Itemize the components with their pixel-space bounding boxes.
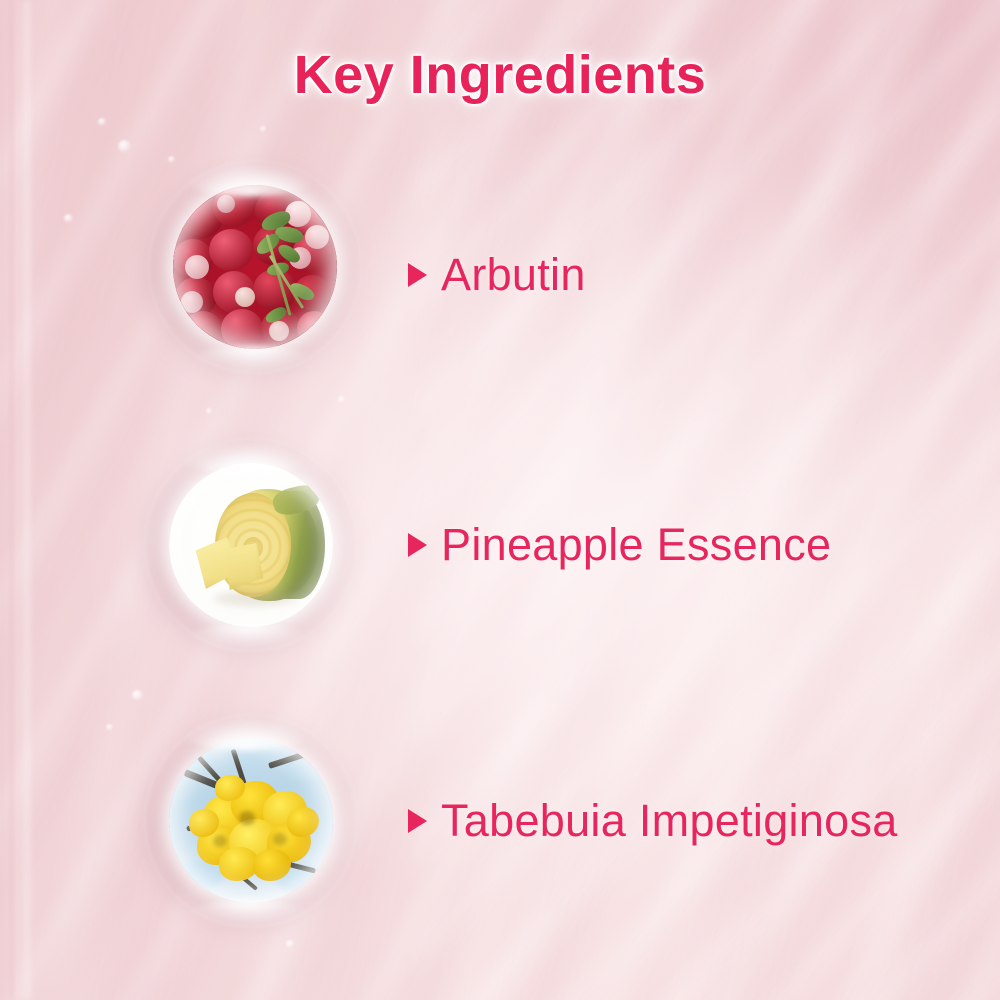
bubble-icon (338, 396, 345, 403)
bead-highlight-bottom (190, 346, 314, 374)
bead-highlight-top (180, 440, 312, 474)
left-edge-highlight (22, 0, 32, 1000)
bubble-icon (286, 940, 294, 948)
ingredient-label-row-3: Tabebuia Impetiginosa (408, 798, 898, 843)
triangle-right-icon (408, 533, 427, 557)
ingredient-label-arbutin: Arbutin (441, 252, 586, 297)
bead-highlight-bottom (186, 624, 310, 652)
ingredient-image-berries (140, 152, 370, 382)
ingredient-image-tabebuia (136, 706, 366, 936)
tabebuia-photo (169, 739, 333, 903)
bubble-icon (118, 140, 131, 153)
bubble-icon (206, 408, 212, 414)
bubble-icon (64, 214, 73, 223)
pineapple-photo (169, 463, 333, 627)
triangle-right-icon (408, 263, 427, 287)
berries-photo (173, 185, 337, 349)
bubble-icon (132, 690, 143, 701)
triangle-right-icon (408, 809, 427, 833)
ingredient-label-row-1: Arbutin (408, 252, 586, 297)
ingredient-label-pineapple-essence: Pineapple Essence (441, 522, 831, 567)
page-title: Key Ingredients (0, 44, 1000, 106)
ingredient-label-row-2: Pineapple Essence (408, 522, 831, 567)
bubble-icon (106, 724, 113, 731)
ingredient-image-pineapple (136, 430, 366, 660)
bead-highlight-bottom (186, 900, 310, 928)
key-ingredients-poster: Key Ingredients (0, 0, 1000, 1000)
bubble-icon (98, 118, 106, 126)
bead-highlight-top (184, 162, 316, 196)
bead-highlight-top (180, 716, 312, 750)
bubble-icon (260, 126, 266, 132)
ingredient-label-tabebuia-impetiginosa: Tabebuia Impetiginosa (441, 798, 898, 843)
